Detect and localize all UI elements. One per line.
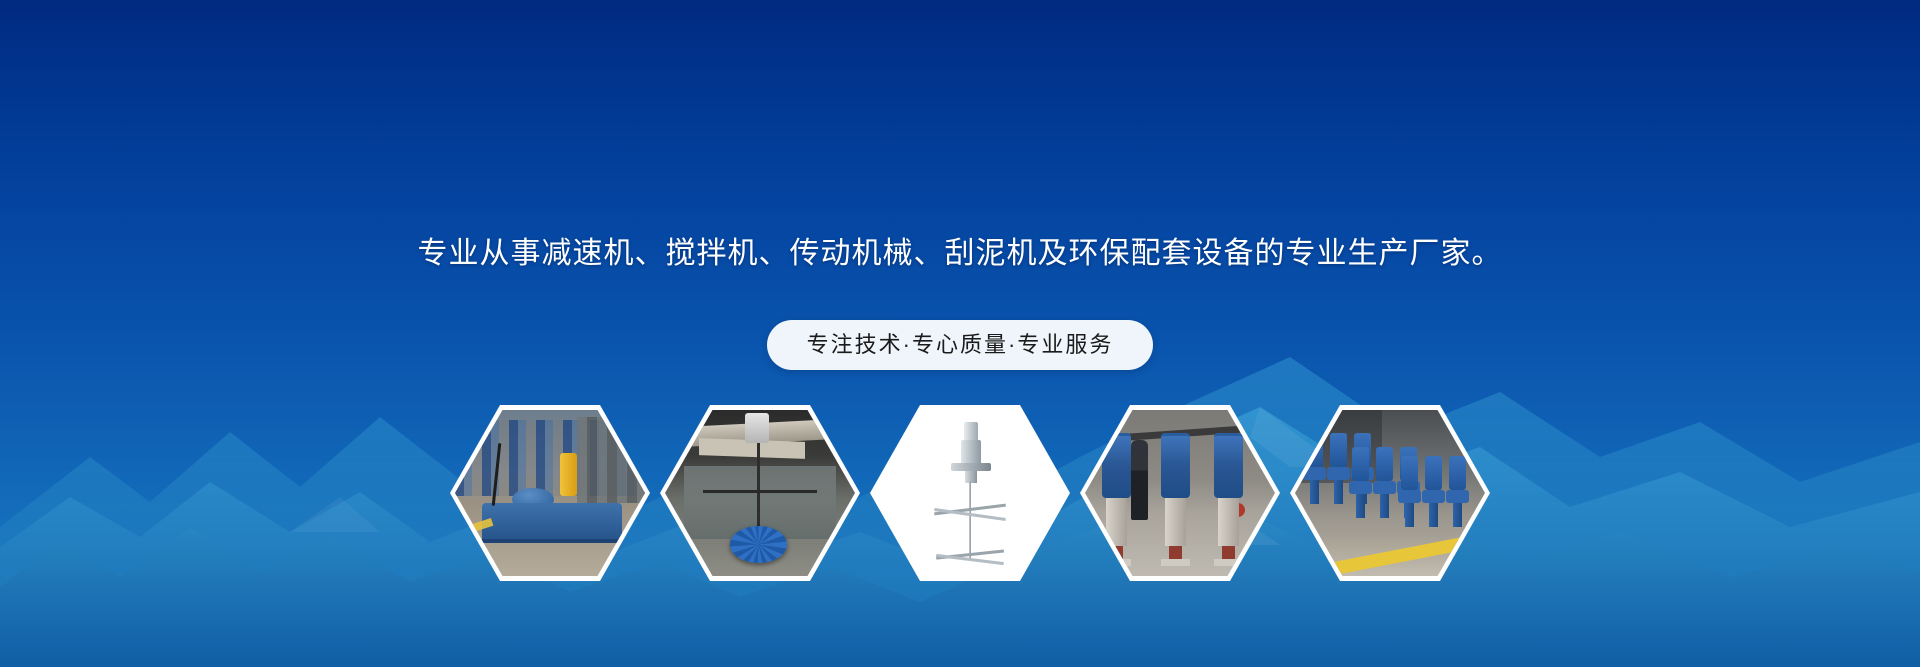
slogan-pill[interactable]: 专注技术·专心质量·专业服务 (767, 320, 1154, 370)
hexagon-photo-factory-motors[interactable] (1080, 405, 1280, 581)
slogan-pill-container: 专注技术·专心质量·专业服务 (0, 320, 1920, 370)
hexagon-gallery (450, 405, 1510, 581)
hexagon-photo-gear-reducer[interactable] (450, 405, 650, 581)
hexagon-photo-agitator-product[interactable] (870, 405, 1070, 581)
hexagon-photo-gearbox-row[interactable] (1290, 405, 1490, 581)
hexagon-photo-tank-mixer[interactable] (660, 405, 860, 581)
page-title: 专业从事减速机、搅拌机、传动机械、刮泥机及环保配套设备的专业生产厂家。 (0, 234, 1920, 274)
hero-banner: 专业从事减速机、搅拌机、传动机械、刮泥机及环保配套设备的专业生产厂家。 专注技术… (0, 0, 1920, 667)
